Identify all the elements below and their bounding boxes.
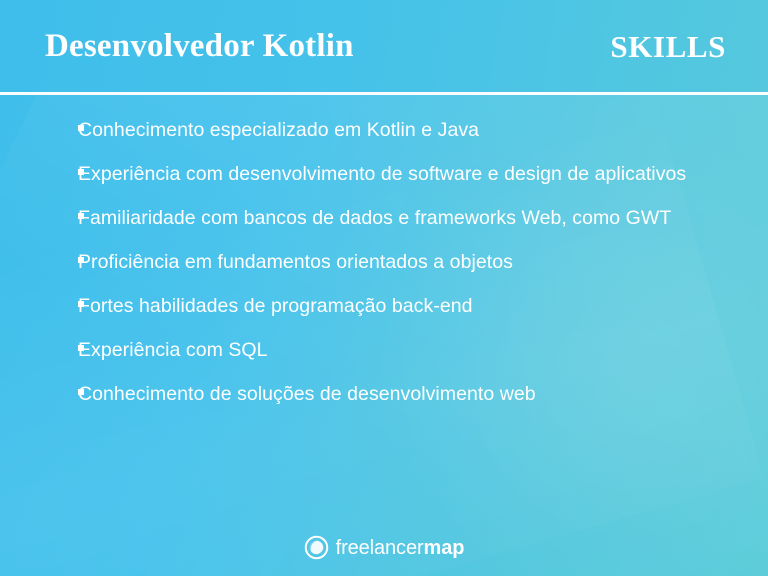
list-item-label: Fortes habilidades de programação back-e…	[78, 286, 473, 326]
square-bullet-icon	[78, 345, 84, 351]
square-bullet-icon	[78, 301, 84, 307]
list-item-label: Conhecimento especializado em Kotlin e J…	[78, 110, 479, 150]
list-item: Conhecimento especializado em Kotlin e J…	[0, 110, 768, 150]
square-bullet-icon	[78, 213, 84, 219]
list-item: Familiaridade com bancos de dados e fram…	[0, 198, 768, 238]
list-item-label: Proficiência em fundamentos orientados a…	[78, 242, 513, 282]
list-item-label: Experiência com desenvolvimento de softw…	[78, 154, 686, 194]
slide-header: Desenvolvedor Kotlin SKILLS	[0, 0, 768, 92]
skills-list: Conhecimento especializado em Kotlin e J…	[0, 110, 768, 418]
list-item: Experiência com SQL	[0, 330, 768, 370]
slide-canvas: Desenvolvedor Kotlin SKILLS Conhecimento…	[0, 0, 768, 576]
header-divider	[0, 92, 768, 95]
list-item: Fortes habilidades de programação back-e…	[0, 286, 768, 326]
list-item-label: Conhecimento de soluções de desenvolvime…	[78, 374, 536, 414]
square-bullet-icon	[78, 169, 84, 175]
page-title: Desenvolvedor Kotlin	[45, 30, 354, 63]
brand-word-map: map	[424, 537, 465, 559]
square-bullet-icon	[78, 125, 84, 131]
square-bullet-icon	[78, 257, 84, 263]
brand-wordmark: freelancermap	[336, 538, 465, 558]
list-item: Conhecimento de soluções de desenvolvime…	[0, 374, 768, 414]
brand-word-freelancer: freelancer	[336, 537, 424, 559]
list-item: Proficiência em fundamentos orientados a…	[0, 242, 768, 282]
list-item-label: Experiência com SQL	[78, 330, 268, 370]
freelancermap-lens-icon	[304, 535, 329, 560]
list-item: Experiência com desenvolvimento de softw…	[0, 154, 768, 194]
footer-brand: freelancermap	[0, 535, 768, 560]
section-label: SKILLS	[610, 31, 726, 62]
square-bullet-icon	[78, 389, 84, 395]
list-item-label: Familiaridade com bancos de dados e fram…	[78, 198, 671, 238]
